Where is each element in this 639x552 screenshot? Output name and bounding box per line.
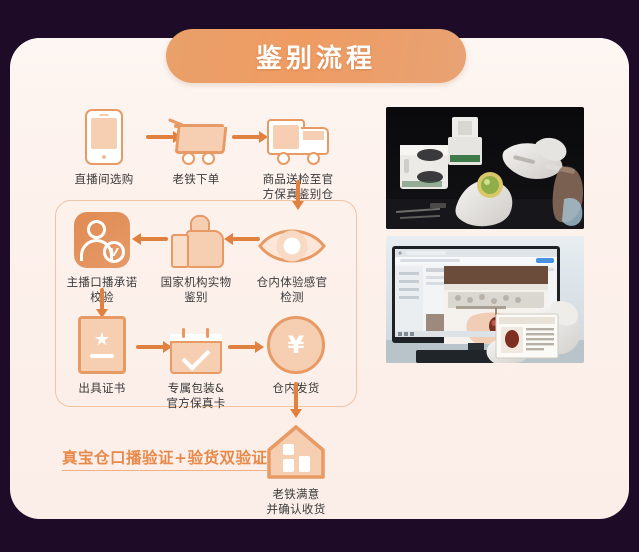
- infographic-root: 鉴别流程 直播间选购 老铁下单 商品送检至官 方保真鉴别仓: [0, 0, 639, 552]
- flow-node-label: 仓内体验感官 检测: [242, 275, 342, 305]
- photo-livestream-certificate: [386, 236, 584, 363]
- flow-node-live-shopping[interactable]: 直播间选购: [54, 103, 154, 187]
- verified-badge: V: [103, 241, 125, 263]
- arrow-down-icon: [290, 382, 302, 418]
- flow-node-exclusive-packaging[interactable]: 专属包装& 官方保真卡: [146, 312, 246, 411]
- flow-node-label: 老铁满意 并确认收货: [246, 487, 346, 517]
- flow-node-label: 老铁下单: [146, 172, 246, 187]
- verification-note: 真宝仓口播验证+验货双验证: [62, 446, 268, 471]
- flow-node-issue-certificate[interactable]: ★ 出具证书: [52, 312, 152, 396]
- eye-inspection-icon: [242, 206, 342, 268]
- photo-gemstone-inspection: [386, 107, 584, 229]
- flow-node-label: 国家机构实物 鉴别: [146, 275, 246, 305]
- flow-node-place-order[interactable]: 老铁下单: [146, 103, 246, 187]
- flow-node-label: 专属包装& 官方保真卡: [146, 381, 246, 411]
- delivery-truck-icon: [248, 103, 348, 165]
- flow-node-label: 出具证书: [52, 381, 152, 396]
- yuan-symbol: ¥: [288, 333, 305, 357]
- shopping-cart-icon: [146, 103, 246, 165]
- page-title: 鉴别流程: [256, 38, 376, 75]
- title-banner: 鉴别流程: [166, 29, 466, 83]
- flow-node-label: 直播间选购: [54, 172, 154, 187]
- smartphone-icon: [54, 103, 154, 165]
- flow-node-national-authentication[interactable]: 国家机构实物 鉴别: [146, 206, 246, 305]
- coin-yuan-icon: ¥: [246, 312, 346, 374]
- flow-node-sensory-inspection[interactable]: 仓内体验感官 检测: [242, 206, 342, 305]
